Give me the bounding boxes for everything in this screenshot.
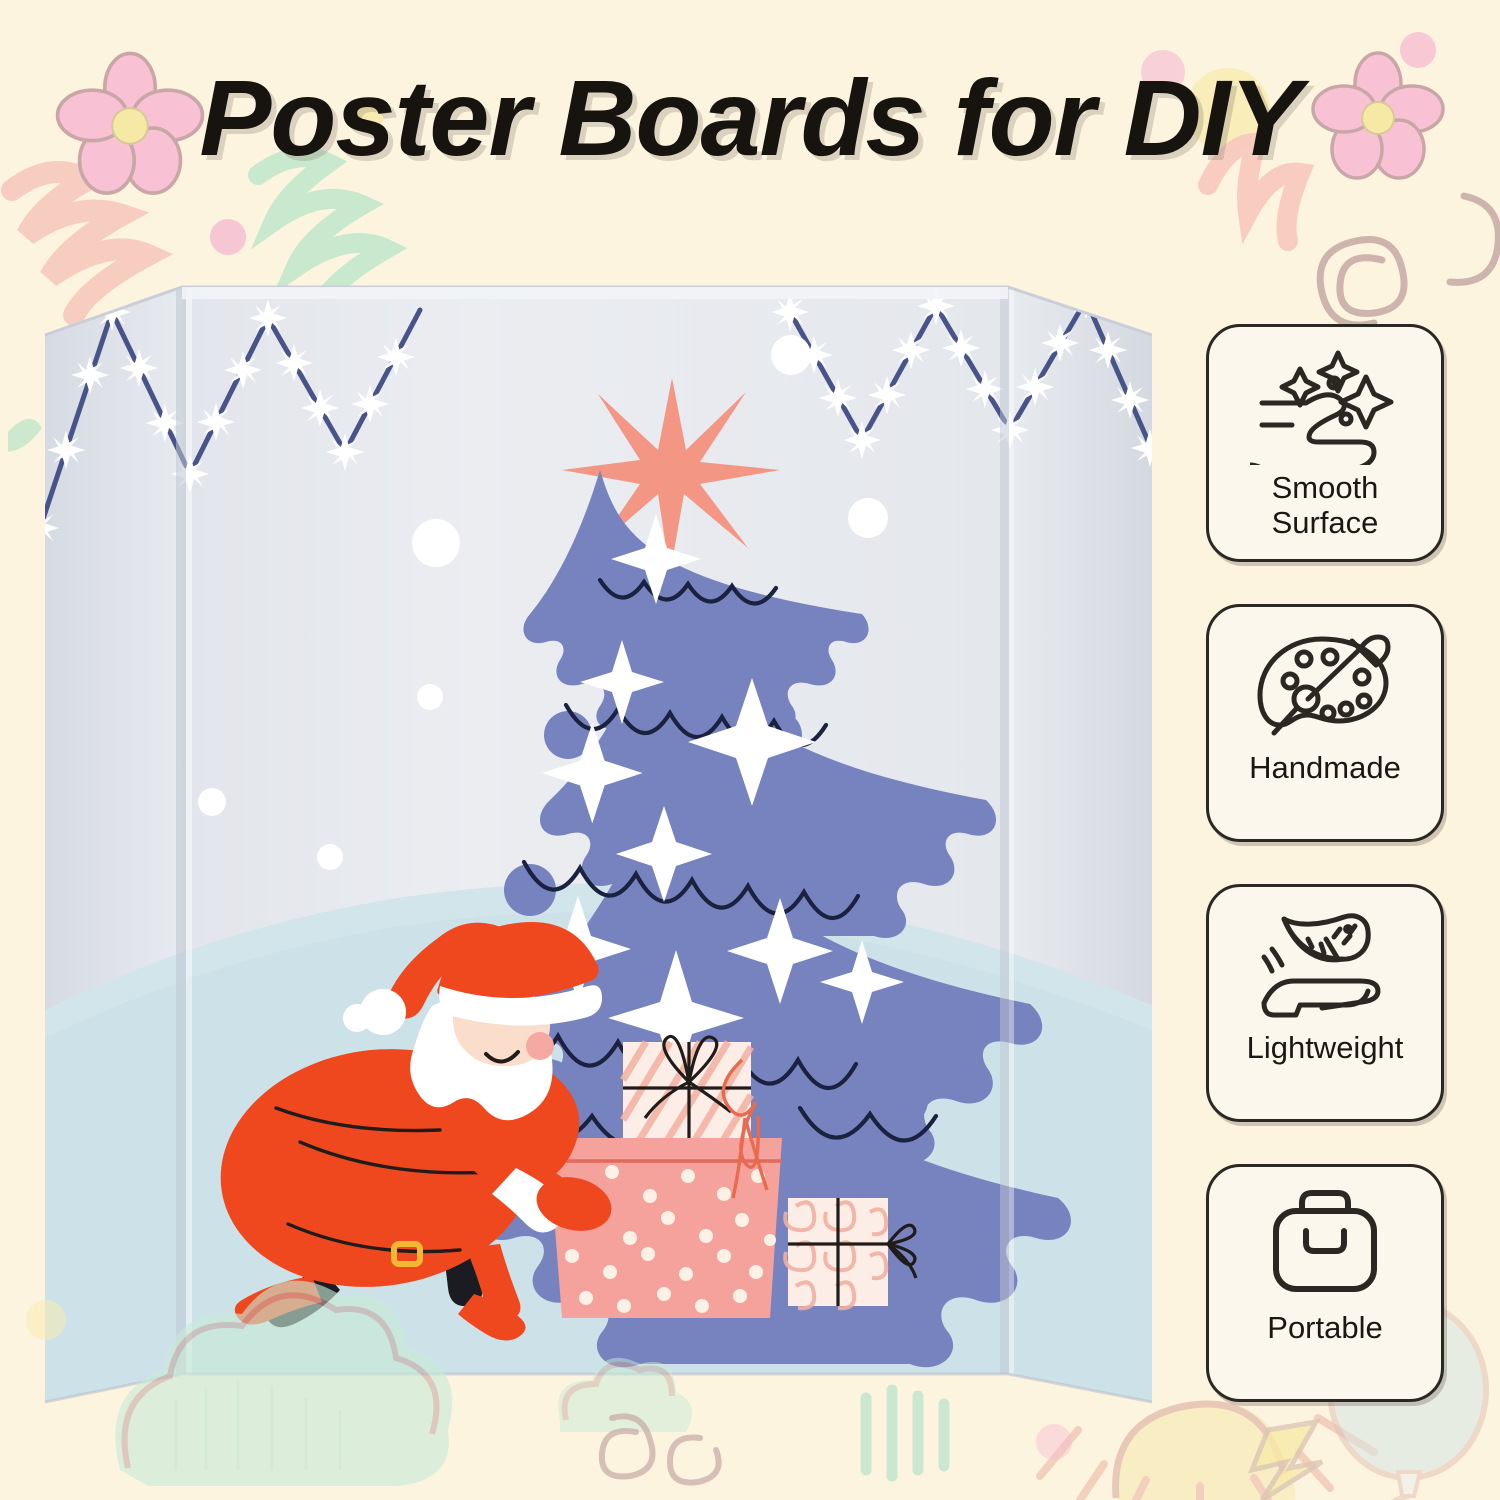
feather-hand-icon: [1250, 905, 1400, 1025]
product-marketing-image: Poster Boards for DIY SmoothSurface: [0, 0, 1500, 1500]
feature-label: Portable: [1218, 1311, 1433, 1346]
hand-sparkle-icon: [1250, 345, 1400, 465]
feature-badge-lightweight[interactable]: Lightweight: [1206, 884, 1444, 1122]
feature-badge-portable[interactable]: Portable: [1206, 1164, 1444, 1402]
feature-label: Lightweight: [1218, 1031, 1433, 1066]
feature-label: Handmade: [1218, 751, 1433, 786]
briefcase-icon: [1250, 1185, 1400, 1305]
page-title: Poster Boards for DIY: [0, 55, 1500, 180]
feature-badge-smooth-surface[interactable]: SmoothSurface: [1206, 324, 1444, 562]
paint-palette-icon: [1250, 625, 1400, 745]
feature-badge-handmade[interactable]: Handmade: [1206, 604, 1444, 842]
feature-label: SmoothSurface: [1218, 471, 1433, 540]
